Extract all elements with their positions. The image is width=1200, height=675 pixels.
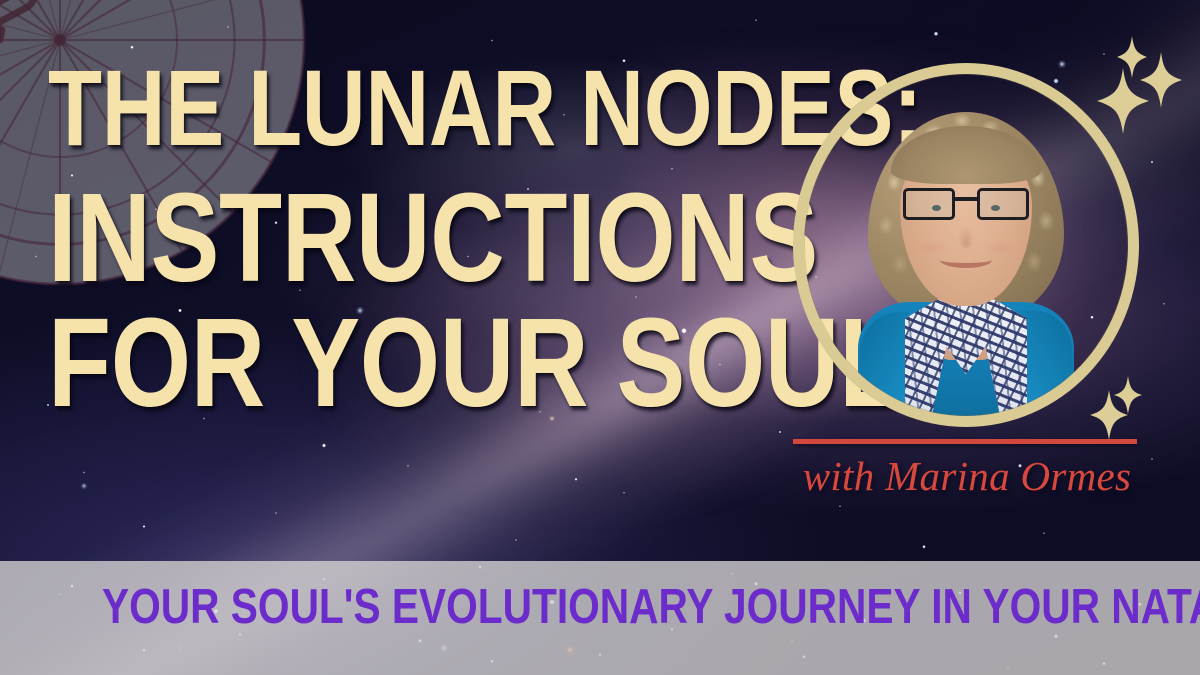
gold-ring-frame: [793, 63, 1139, 427]
page-title: THE LUNAR NODES: INSTRUCTIONS FOR YOUR S…: [48, 56, 788, 424]
sparkle-icon-top-large: [1097, 68, 1149, 134]
title-line-1: THE LUNAR NODES:: [48, 56, 655, 160]
subtitle-bar: YOUR SOUL'S EVOLUTIONARY JOURNEY IN YOUR…: [0, 561, 1200, 675]
subtitle-text: YOUR SOUL'S EVOLUTIONARY JOURNEY IN YOUR…: [102, 583, 1098, 632]
sparkle-icon-bottom-large: [1090, 390, 1128, 440]
divider-rule: [793, 439, 1137, 444]
avatar: [793, 63, 1139, 427]
title-line-2: INSTRUCTIONS: [48, 178, 655, 299]
title-line-3: FOR YOUR SOUL: [48, 303, 655, 424]
youtube-thumbnail: THE LUNAR NODES: INSTRUCTIONS FOR YOUR S…: [0, 0, 1200, 675]
host-byline: with Marina Ormes: [793, 452, 1141, 500]
